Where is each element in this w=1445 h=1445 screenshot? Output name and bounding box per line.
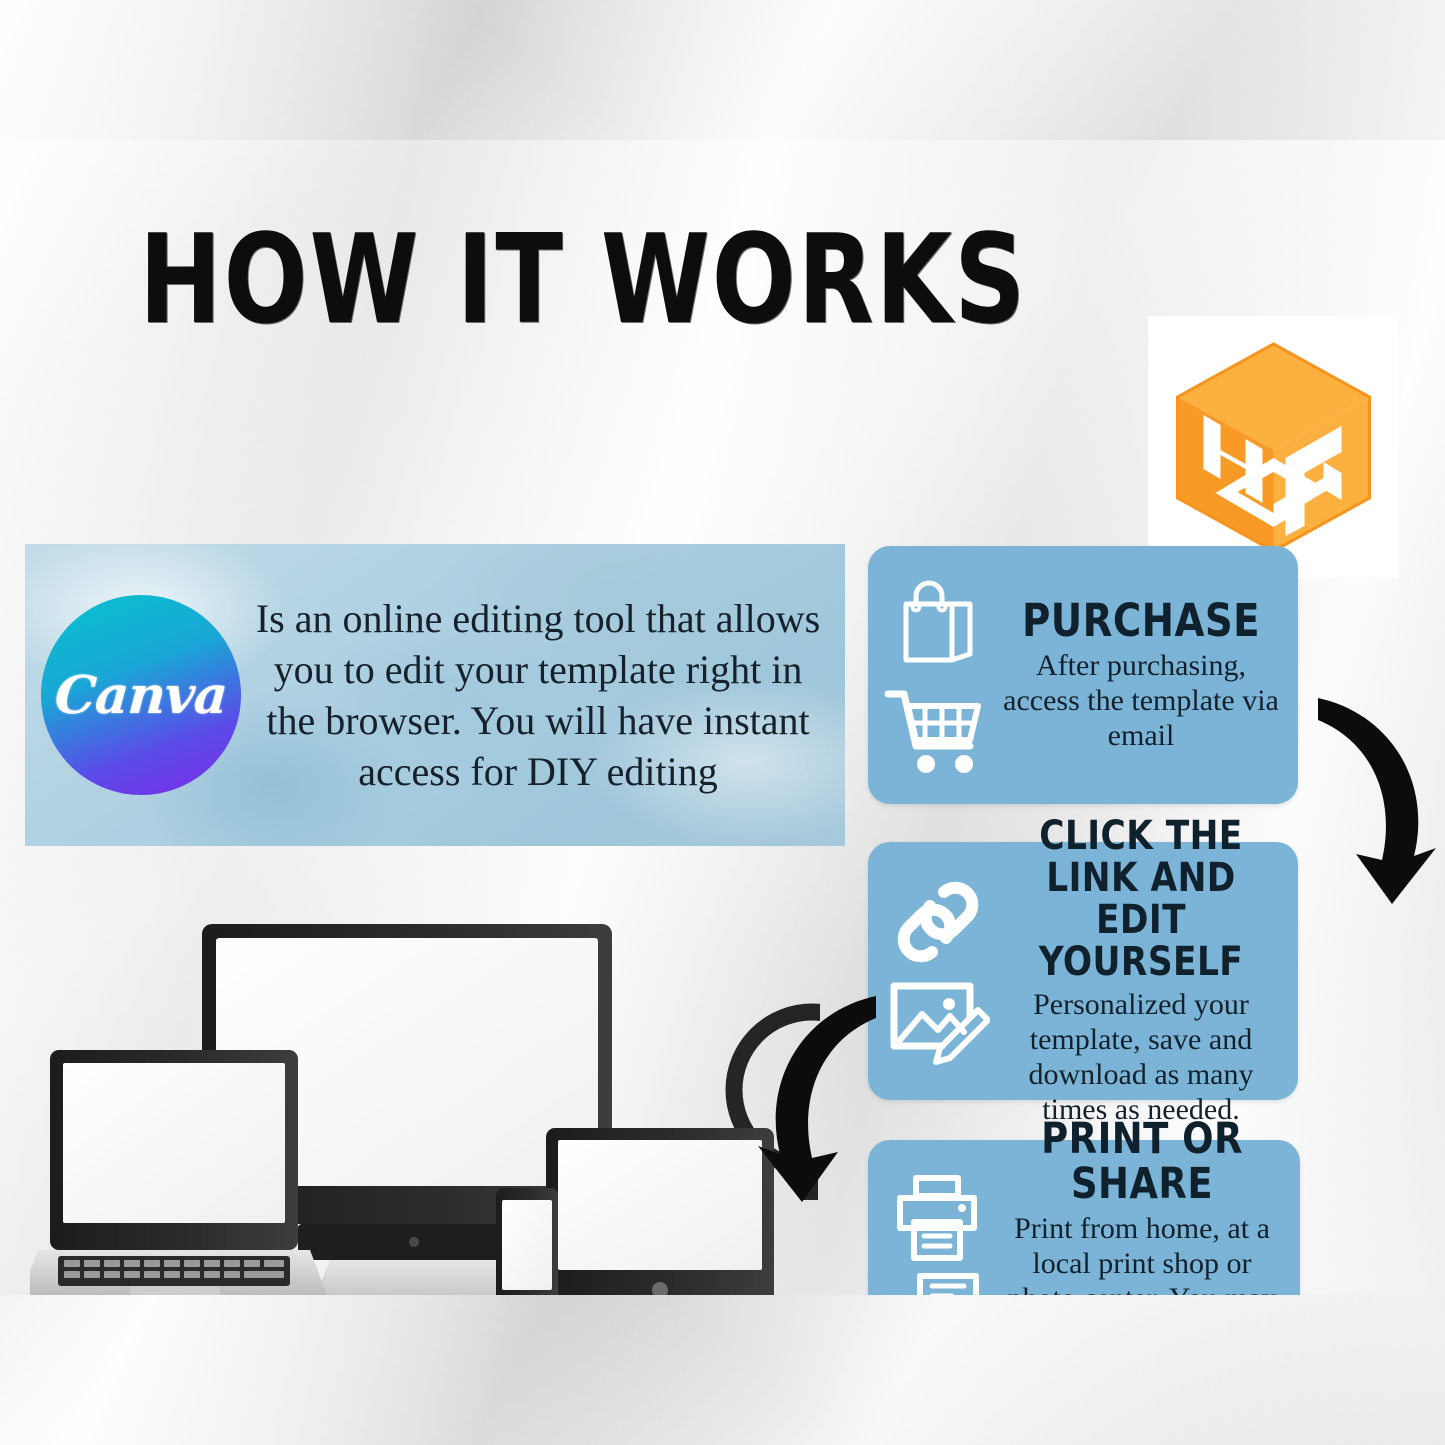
smartphone bbox=[496, 1188, 558, 1295]
laptop bbox=[30, 1050, 328, 1295]
purchase-title: PURCHASE bbox=[1018, 597, 1264, 644]
print-description: Print from home, at a local print shop o… bbox=[998, 1211, 1286, 1295]
edit-body: CLICK THE LINK AND EDIT YOURSELF Persona… bbox=[998, 856, 1284, 1086]
poster-canvas: HOW IT WORKS Canva bbox=[0, 140, 1445, 1295]
printer-icon bbox=[890, 1172, 986, 1264]
shopping-cart-icon bbox=[884, 684, 992, 776]
arrow-purchase-to-edit bbox=[1296, 680, 1445, 910]
purchase-description: After purchasing, access the template vi… bbox=[998, 648, 1284, 753]
tablet bbox=[546, 1128, 774, 1295]
print-body: PRINT OR SHARE Print from home, at a loc… bbox=[998, 1154, 1286, 1295]
chain-link-icon bbox=[890, 876, 986, 968]
canva-logo-circle: Canva bbox=[41, 595, 241, 795]
arrow-edit-to-print bbox=[748, 982, 898, 1204]
canva-description: Is an online editing tool that allows yo… bbox=[241, 593, 845, 798]
print-title: PRINT OR SHARE bbox=[1018, 1117, 1266, 1207]
page-title: HOW IT WORKS bbox=[139, 218, 861, 341]
shopping-bag-icon bbox=[890, 574, 986, 678]
canva-info-panel: Canva Is an online editing tool that all… bbox=[25, 544, 845, 846]
device-mockup-image bbox=[30, 900, 820, 1295]
edit-description: Personalized your template, save and dow… bbox=[998, 987, 1284, 1127]
purchase-body: PURCHASE After purchasing, access the te… bbox=[998, 560, 1284, 790]
poster-root: HOW IT WORKS Canva bbox=[0, 0, 1445, 1445]
image-edit-icon bbox=[886, 974, 990, 1066]
hrg-cube-logo bbox=[1171, 340, 1376, 555]
step-card-edit[interactable]: CLICK THE LINK AND EDIT YOURSELF Persona… bbox=[868, 842, 1298, 1100]
step-card-purchase[interactable]: PURCHASE After purchasing, access the te… bbox=[868, 546, 1298, 804]
devices-illustration bbox=[30, 900, 820, 1295]
chat-bubbles-icon bbox=[886, 1270, 990, 1295]
step-card-print[interactable]: PRINT OR SHARE Print from home, at a loc… bbox=[868, 1140, 1300, 1295]
hrg-logo-container bbox=[1148, 316, 1398, 578]
edit-title: CLICK THE LINK AND EDIT YOURSELF bbox=[1018, 815, 1264, 983]
canva-wordmark: Canva bbox=[53, 665, 229, 726]
purchase-icons bbox=[878, 560, 998, 790]
